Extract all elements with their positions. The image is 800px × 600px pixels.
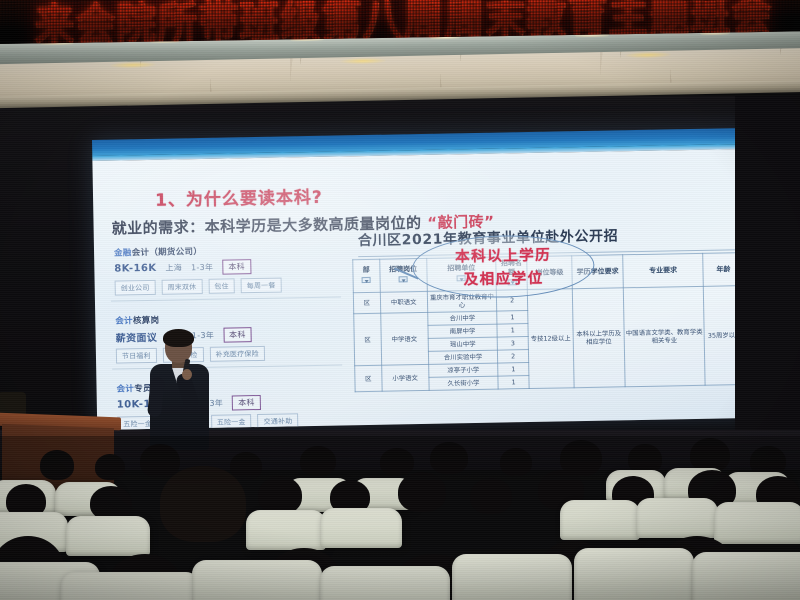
job-education-badge: 本科 xyxy=(232,395,261,411)
job-title-red: 会计 xyxy=(115,316,133,326)
job-salary: 8K-16K xyxy=(114,263,156,275)
header-label: 专业要求 xyxy=(649,266,677,275)
job-tag: 创业公司 xyxy=(115,280,156,296)
stage-backdrop-right xyxy=(735,96,800,436)
chair xyxy=(60,572,200,600)
table-header-cell: 专业要求 xyxy=(623,253,703,288)
cell-quota: 1 xyxy=(497,311,528,325)
audience-head xyxy=(140,444,180,478)
chair xyxy=(714,502,800,544)
job-tag: 补充医疗保险 xyxy=(209,346,264,362)
chair xyxy=(452,554,572,600)
table-header-cell: 部 xyxy=(353,259,380,293)
job-title-red: 金融 xyxy=(114,248,132,258)
job-title-rest: 会计（期货公司） xyxy=(132,247,203,258)
wall-spot-light xyxy=(625,52,671,59)
cell-post: 小学语文 xyxy=(381,365,429,392)
cell-area: 区 xyxy=(355,365,382,391)
presenter-hand xyxy=(182,369,192,380)
audience-head xyxy=(500,448,532,476)
wall-spot-light xyxy=(110,62,156,69)
job-card: 金融会计（期货公司） 8K-16K 上海 1-3年 本科 创业公司 周末双休 包… xyxy=(110,242,341,301)
audience-head xyxy=(40,450,74,480)
audience-head xyxy=(258,476,302,514)
audience-head xyxy=(690,438,730,472)
audience-head xyxy=(160,466,246,542)
audience-head xyxy=(90,486,132,520)
audience-head xyxy=(470,478,512,514)
job-tag: 周末双休 xyxy=(161,279,202,295)
callout-line-1: 本科以上学历 xyxy=(455,244,551,267)
audience-head xyxy=(300,446,336,476)
header-label: 年龄 xyxy=(716,265,730,273)
job-education-badge: 本科 xyxy=(223,327,252,343)
chair xyxy=(636,498,718,538)
chair xyxy=(692,552,800,600)
job-tag: 包住 xyxy=(208,278,235,293)
job-title: 金融会计（期货公司） xyxy=(114,242,340,258)
wall-spot-light xyxy=(340,58,386,65)
cell-unit: 瑶山中学 xyxy=(428,337,498,351)
header-label: 部 xyxy=(363,266,370,274)
cell-area: 区 xyxy=(354,313,382,365)
audience-seating xyxy=(0,436,800,600)
chair xyxy=(560,500,640,540)
chair xyxy=(66,516,150,556)
presenter xyxy=(146,331,214,449)
audience-head xyxy=(230,452,262,480)
job-city: 上海 xyxy=(165,262,182,273)
cell-quota: 1 xyxy=(498,363,529,377)
cell-level: 专技12级以上 xyxy=(527,289,574,389)
cell-quota: 3 xyxy=(497,337,528,351)
cell-unit: 久长街小学 xyxy=(429,376,499,390)
cell-unit: 合川实验中学 xyxy=(428,350,498,364)
job-experience: 1-3年 xyxy=(191,262,213,273)
job-tags: 创业公司 周末双休 包住 每周一餐 xyxy=(115,276,341,295)
job-title-red: 会计 xyxy=(116,384,134,394)
chair xyxy=(320,508,402,548)
callout-line-2: 及相应学位 xyxy=(463,267,543,289)
slide-heading: 1、为什么要读本科? xyxy=(155,183,323,211)
job-tag: 每周一餐 xyxy=(241,278,282,294)
cell-quota: 2 xyxy=(498,350,529,364)
job-title-rest: 核算岗 xyxy=(133,316,160,326)
audience-head xyxy=(380,448,414,476)
audience-head xyxy=(398,472,446,512)
cell-post: 中职语文 xyxy=(380,292,427,314)
filter-dropdown-icon[interactable] xyxy=(399,276,408,282)
presenter-hair xyxy=(163,329,194,347)
cell-post: 中学语文 xyxy=(380,313,428,366)
auditorium-photo: 来会院所带班级第八周周末教育主题班会 1、为什么要读本科? 就业的需求：本科学历… xyxy=(0,0,800,600)
cell-quota: 1 xyxy=(498,376,529,390)
cell-area: 区 xyxy=(353,292,380,313)
job-meta: 8K-16K 上海 1-3年 本科 xyxy=(114,257,340,276)
chair xyxy=(320,566,450,600)
audience-head xyxy=(95,454,125,480)
audience-head xyxy=(430,442,468,474)
chair xyxy=(574,548,694,600)
cell-unit: 合川中学 xyxy=(427,311,497,325)
job-title: 会计核算岗 xyxy=(115,310,341,326)
cell-unit: 南屏中学 xyxy=(428,324,498,338)
cell-major: 中国语言文学类、教育学类相关专业 xyxy=(623,287,705,387)
chair xyxy=(192,560,322,600)
cell-degree: 本科以上学历及相应学位 xyxy=(572,288,625,388)
cell-quota: 1 xyxy=(497,324,528,338)
job-education-badge: 本科 xyxy=(222,259,251,275)
cell-unit: 凉亭子小学 xyxy=(428,363,498,377)
chair xyxy=(246,510,326,550)
filter-dropdown-icon[interactable] xyxy=(362,277,371,283)
